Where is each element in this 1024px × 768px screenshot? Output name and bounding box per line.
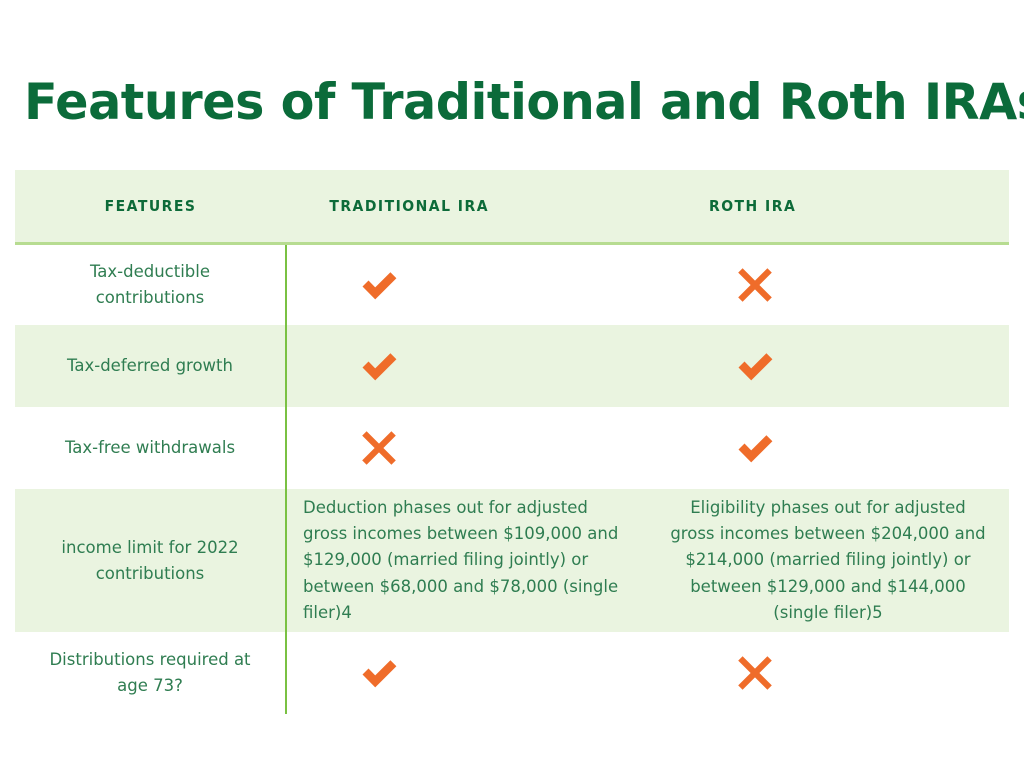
traditional-ira-value — [286, 243, 647, 325]
check-icon — [735, 346, 775, 386]
cross-icon — [735, 265, 775, 305]
roth-ira-value — [647, 632, 1009, 714]
table-row: Tax-free withdrawals — [15, 407, 1009, 489]
cross-icon — [359, 428, 399, 468]
table-body: Tax-deductible contributions — [15, 243, 1009, 714]
column-header-roth-ira: ROTH IRA — [660, 170, 997, 243]
traditional-ira-value — [286, 632, 647, 714]
row-label: Tax-deductible contributions — [15, 243, 286, 325]
check-icon — [359, 346, 399, 386]
traditional-ira-value — [286, 407, 647, 489]
table-row: Distributions required at age 73? — [15, 632, 1009, 714]
traditional-ira-value: Deduction phases out for adjusted gross … — [286, 489, 647, 632]
table-header: FEATURES TRADITIONAL IRA ROTH IRA — [15, 170, 1009, 243]
table-row: Tax-deferred growth — [15, 325, 1009, 407]
table-header-row: FEATURES TRADITIONAL IRA ROTH IRA — [15, 170, 1009, 243]
check-icon — [359, 653, 399, 693]
table-row: Tax-deductible contributions — [15, 243, 1009, 325]
ira-comparison-table: FEATURES TRADITIONAL IRA ROTH IRA Tax-de… — [15, 170, 1009, 714]
check-icon — [735, 428, 775, 468]
roth-ira-value: Eligibility phases out for adjusted gros… — [647, 489, 1009, 632]
traditional-ira-value — [286, 325, 647, 407]
page-title: Features of Traditional and Roth IRAs — [24, 76, 999, 129]
roth-ira-value — [647, 407, 1009, 489]
table-row: income limit for 2022 contributions Dedu… — [15, 489, 1009, 632]
row-label: Distributions required at age 73? — [15, 632, 286, 714]
row-label: income limit for 2022 contributions — [15, 489, 286, 632]
roth-ira-value — [647, 325, 1009, 407]
cross-icon — [735, 653, 775, 693]
check-icon — [359, 265, 399, 305]
column-header-traditional-ira: TRADITIONAL IRA — [299, 170, 635, 243]
row-label: Tax-deferred growth — [15, 325, 286, 407]
column-header-features: FEATURES — [24, 170, 276, 243]
roth-ira-value — [647, 243, 1009, 325]
row-label: Tax-free withdrawals — [15, 407, 286, 489]
infographic-page: Features of Traditional and Roth IRAs FE… — [0, 0, 1024, 768]
